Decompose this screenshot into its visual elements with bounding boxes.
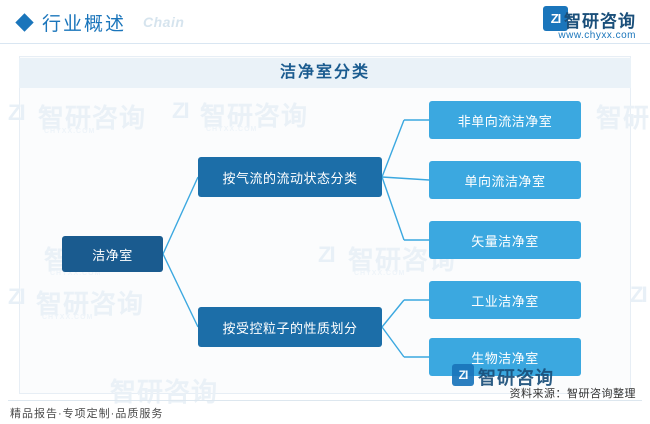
diagram-node-branch-airflow[interactable]: 按气流的流动状态分类 bbox=[198, 157, 382, 197]
diagram-node-branch-particle[interactable]: 按受控粒子的性质划分 bbox=[198, 307, 382, 347]
diagram-node-leaf-vector[interactable]: 矢量洁净室 bbox=[429, 221, 581, 259]
source-note: 资料来源：智研咨询整理 bbox=[510, 385, 637, 401]
diagram-node-leaf-industrial[interactable]: 工业洁净室 bbox=[429, 281, 581, 319]
page-title: 行业概述 bbox=[42, 9, 126, 36]
watermark-logo-icon: ZI bbox=[630, 282, 646, 308]
brand-logo-text: 智研咨询 bbox=[564, 7, 636, 32]
header-divider bbox=[0, 43, 650, 44]
diamond-icon bbox=[15, 13, 33, 31]
footer-tagline: 精品报告·专项定制·品质服务 bbox=[10, 405, 163, 421]
diagram-node-root[interactable]: 洁净室 bbox=[62, 236, 163, 272]
diagram-panel-title: 洁净室分类 bbox=[19, 58, 631, 88]
page-header: 行业概述 Chain ZI 智研咨询 www.chyxx.com bbox=[0, 0, 650, 44]
footer-divider bbox=[8, 400, 642, 401]
diagram-node-leaf-unidirectional[interactable]: 单向流洁净室 bbox=[429, 161, 581, 199]
page-subtitle: Chain bbox=[143, 14, 184, 30]
brand-url: www.chyxx.com bbox=[558, 30, 636, 41]
diagram-node-leaf-nonunidirectional[interactable]: 非单向流洁净室 bbox=[429, 101, 581, 139]
footer-logo-icon: ZI bbox=[452, 364, 474, 386]
